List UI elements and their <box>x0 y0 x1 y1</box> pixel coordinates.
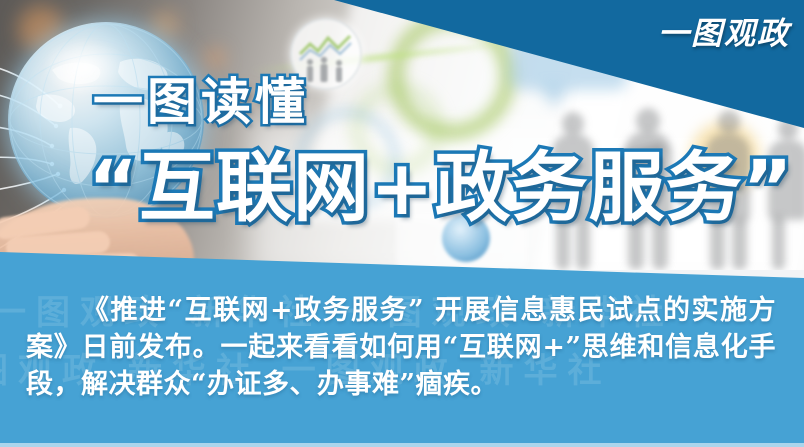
page-title: “互联网+政务服务” <box>88 126 794 236</box>
panel-bottom-strip <box>0 443 804 447</box>
summary-body-text: 《推进“互联网+政务服务” 开展信息惠民试点的实施方案》日前发布。一起来看看如何… <box>0 292 804 403</box>
summary-panel: 一图观政 新华社 一图观政 新华社 一图观政 新华社 一图观政 新华社 《推进“… <box>0 248 804 447</box>
corner-banner-label: 一图观政 <box>658 8 790 53</box>
kicker-title: 一图读懂 <box>93 62 309 134</box>
infographic-poster: 一图读懂 “互联网+政务服务” 一图观政 一图观政 新华社 一图观政 新华社 一… <box>0 0 804 447</box>
